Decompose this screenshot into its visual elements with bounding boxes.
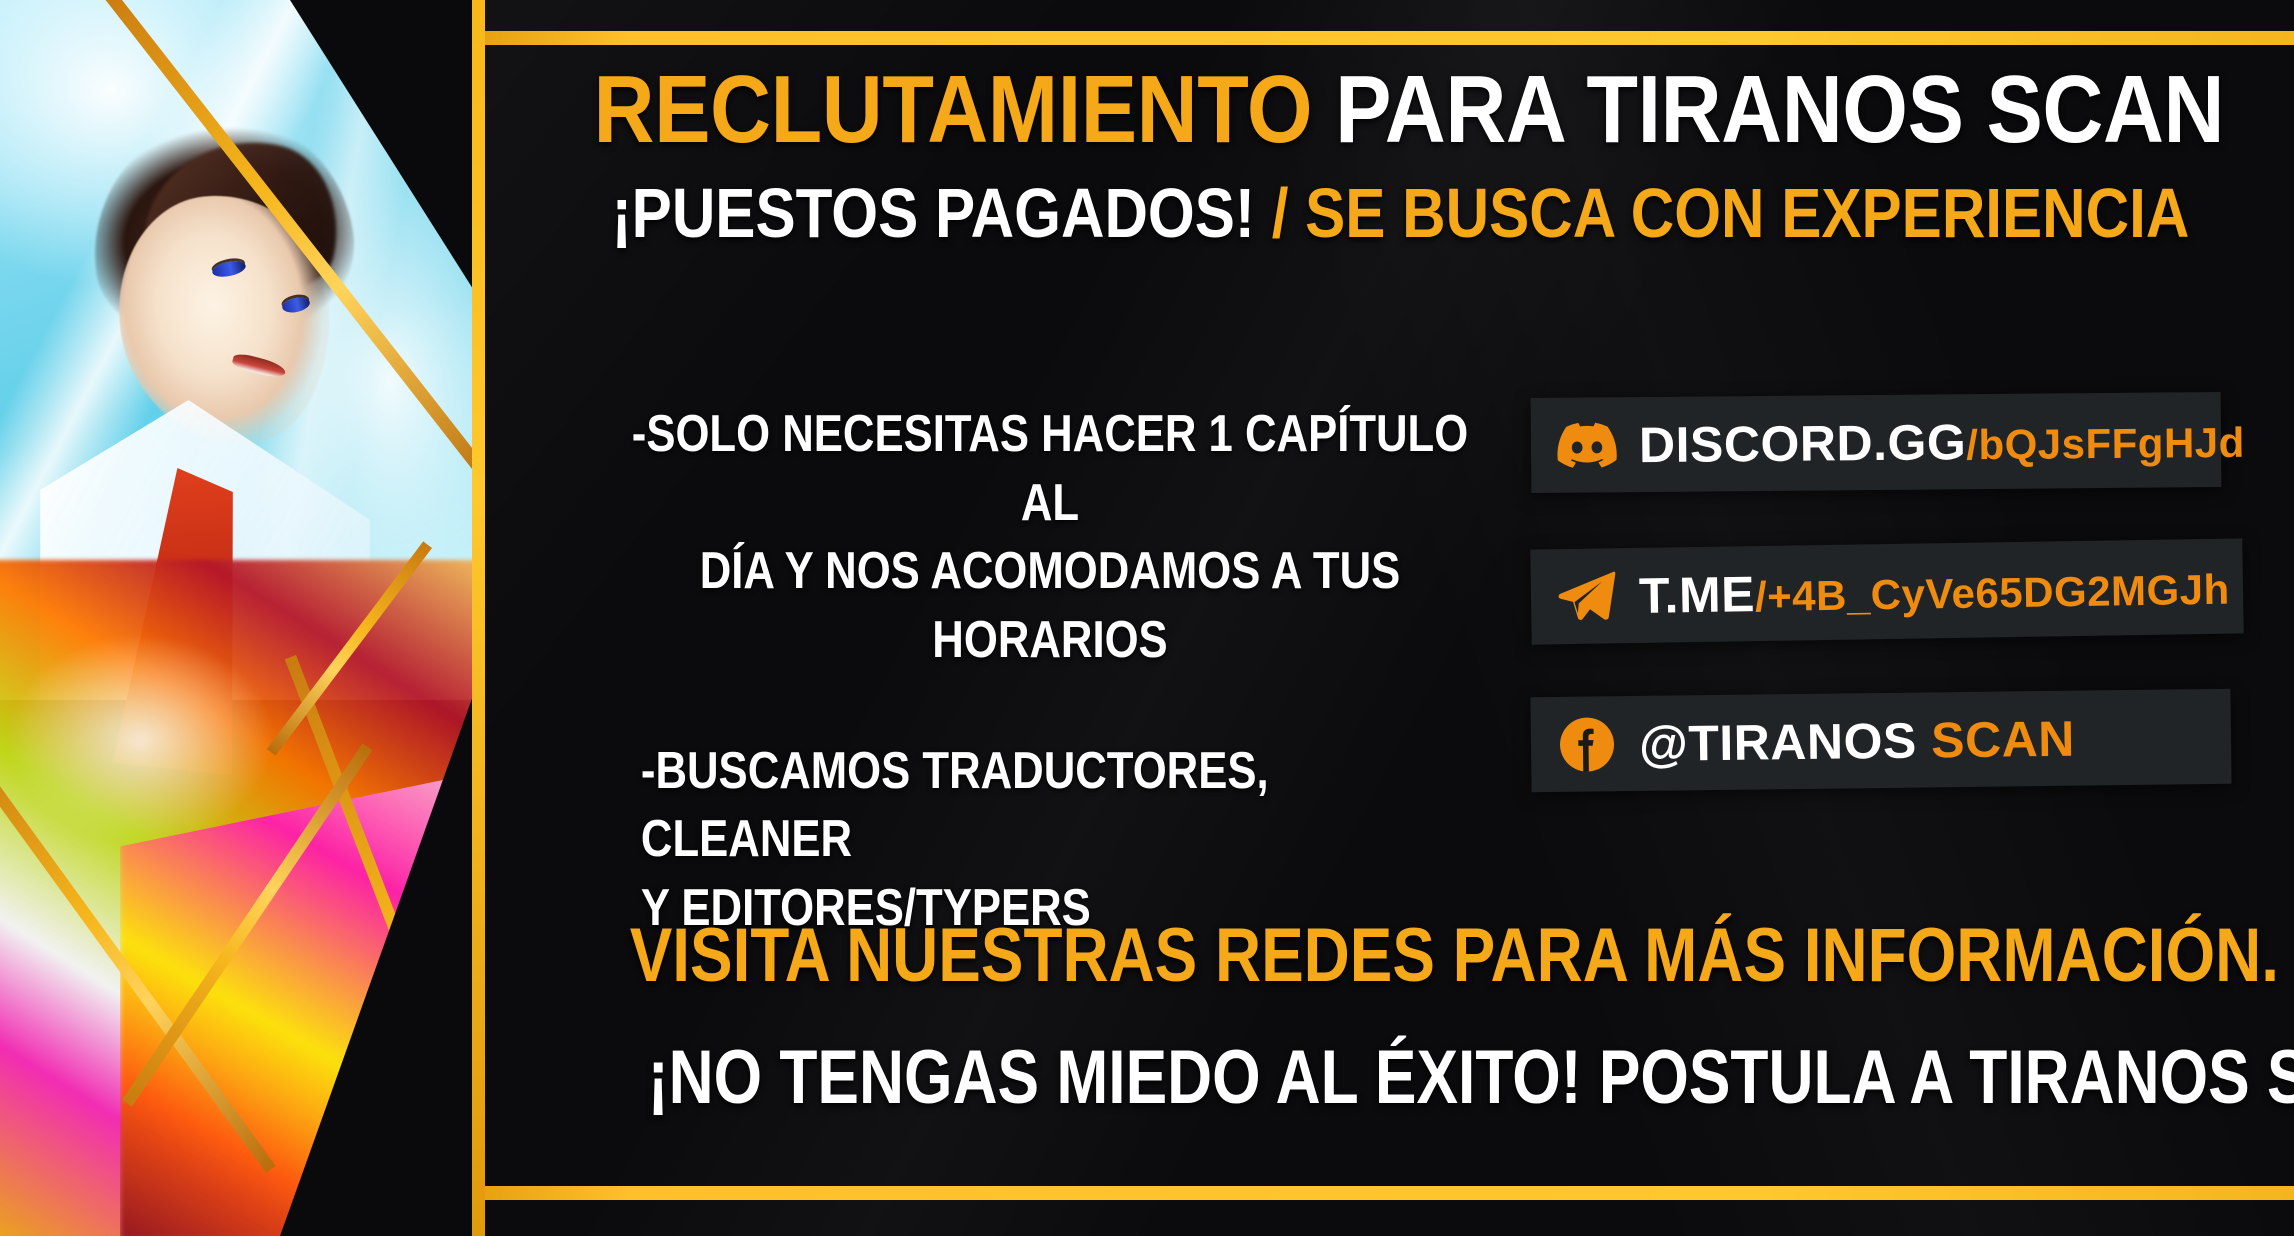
headline-line-1-highlight: RECLUTAMIENTO xyxy=(594,56,1336,163)
bullet-list: -SOLO NECESITAS HACER 1 CAPÍTULO AL DÍA … xyxy=(545,400,1555,942)
facebook-handle: @TIRANOS xyxy=(1639,712,1932,772)
headline-block: RECLUTAMIENTO PARA TIRANOS SCAN ¡PUESTOS… xyxy=(485,62,2294,248)
headline-line-2: ¡PUESTOS PAGADOS! / SE BUSCA CON EXPERIE… xyxy=(612,178,2168,248)
discord-icon xyxy=(1557,415,1618,476)
headline-line-2-paid: ¡PUESTOS PAGADOS! xyxy=(612,174,1272,252)
bottom-gold-rule xyxy=(485,1186,2294,1200)
bullet-schedule-line-2: DÍA Y NOS ACOMODAMOS A TUS HORARIOS xyxy=(626,537,1474,674)
telegram-icon xyxy=(1557,566,1618,627)
discord-domain: DISCORD.GG xyxy=(1639,414,1967,473)
bullet-roles: -BUSCAMOS TRADUCTORES, CLEANER Y EDITORE… xyxy=(626,737,1474,943)
bullet-schedule: -SOLO NECESITAS HACER 1 CAPÍTULO AL DÍA … xyxy=(626,400,1474,675)
contact-card-discord[interactable]: DISCORD.GG/bQJsFFgHJd xyxy=(1531,392,2222,493)
facebook-icon xyxy=(1557,714,1618,775)
contact-card-facebook[interactable]: @TIRANOS SCAN xyxy=(1530,689,2231,793)
footer-block: VISITA NUESTRAS REDES PARA MÁS INFORMACI… xyxy=(485,918,2294,1116)
headline-line-1: RECLUTAMIENTO PARA TIRANOS SCAN xyxy=(594,62,2186,158)
headline-line-1-rest: PARA TIRANOS SCAN xyxy=(1335,56,2224,163)
recruitment-banner: RECLUTAMIENTO PARA TIRANOS SCAN ¡PUESTOS… xyxy=(0,0,2294,1236)
artwork-panel xyxy=(0,0,480,1236)
headline-line-2-experience: / SE BUSCA CON EXPERIENCIA xyxy=(1272,174,2190,252)
telegram-domain: T.ME xyxy=(1639,566,1756,624)
facebook-handle-text: @TIRANOS SCAN xyxy=(1639,713,2075,768)
content-panel: RECLUTAMIENTO PARA TIRANOS SCAN ¡PUESTOS… xyxy=(485,0,2294,1236)
top-gold-rule xyxy=(485,31,2294,45)
discord-link-text: DISCORD.GG/bQJsFFgHJd xyxy=(1639,414,2245,469)
telegram-link-text: T.ME/+4B_CyVe65DG2MGJh xyxy=(1639,561,2230,620)
telegram-invite-code: /+4B_CyVe65DG2MGJh xyxy=(1755,565,2230,619)
footer-line-1: VISITA NUESTRAS REDES PARA MÁS INFORMACI… xyxy=(630,918,2150,994)
bullet-schedule-line-1: -SOLO NECESITAS HACER 1 CAPÍTULO AL xyxy=(626,400,1474,537)
facebook-handle-suffix: SCAN xyxy=(1931,710,2075,768)
contact-card-telegram[interactable]: T.ME/+4B_CyVe65DG2MGJh xyxy=(1530,538,2243,644)
contact-card-list: DISCORD.GG/bQJsFFgHJd T.ME/+4B_CyVe65DG2… xyxy=(1531,395,2271,842)
vertical-gold-divider xyxy=(472,0,485,1236)
discord-invite-code: /bQJsFFgHJd xyxy=(1966,418,2245,467)
bullet-roles-line-1: -BUSCAMOS TRADUCTORES, CLEANER xyxy=(641,737,1474,874)
footer-line-2: ¡NO TENGAS MIEDO AL ÉXITO! POSTULA A TIR… xyxy=(648,1040,2131,1116)
